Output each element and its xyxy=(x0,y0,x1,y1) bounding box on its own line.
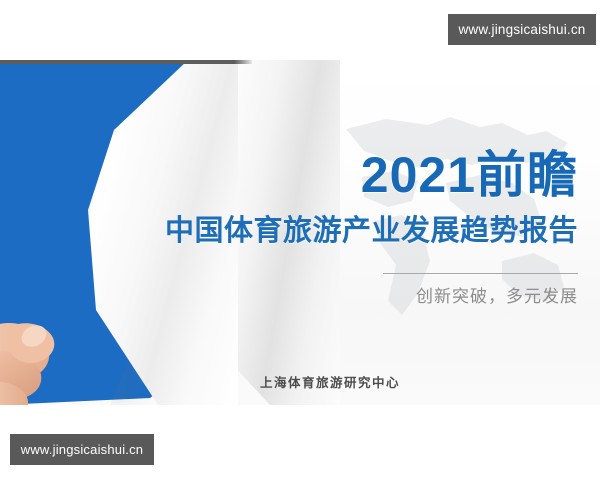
slide-subtitle: 中国体育旅游产业发展趋势报告 xyxy=(0,217,578,246)
title-divider-rule xyxy=(383,273,578,274)
slide-title: 2021前瞻 xyxy=(0,150,578,200)
watermark-bottom-left: www.jingsicaishui.cn xyxy=(10,434,154,465)
presentation-slide: 2021前瞻 中国体育旅游产业发展趋势报告 创新突破，多元发展 上海体育旅游研究… xyxy=(0,60,600,405)
watermark-top-right: www.jingsicaishui.cn xyxy=(448,14,596,45)
slide-tagline: 创新突破，多元发展 xyxy=(0,285,578,309)
screenshot-canvas: 2021前瞻 中国体育旅游产业发展趋势报告 创新突破，多元发展 上海体育旅游研究… xyxy=(0,0,600,480)
slide-top-edge-strip xyxy=(0,60,252,64)
slide-organization: 上海体育旅游研究中心 xyxy=(0,372,600,391)
